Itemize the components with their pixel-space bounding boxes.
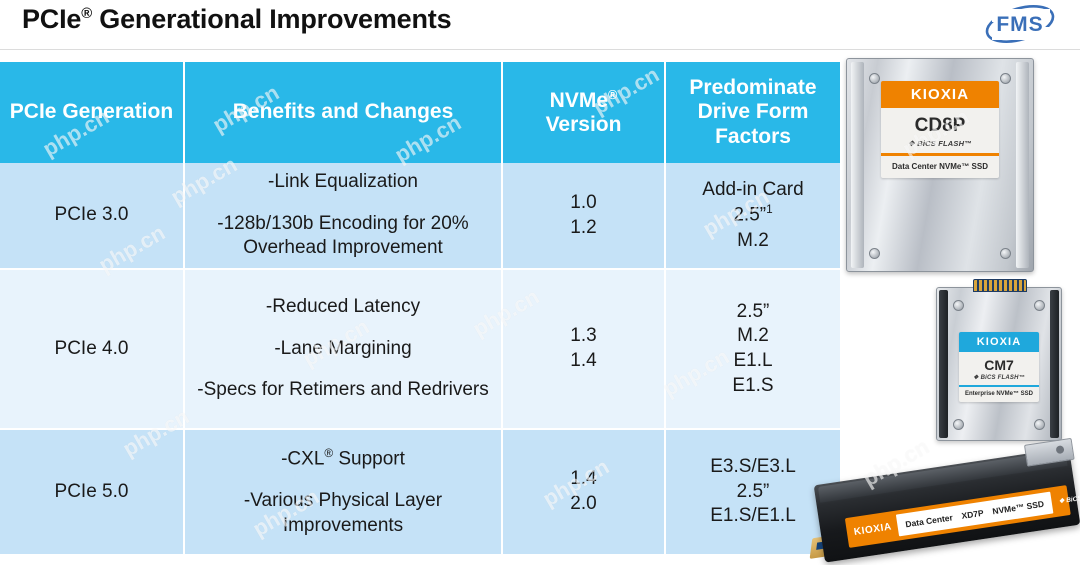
nvme-version-value: 2.0 xyxy=(503,492,664,517)
screw-icon xyxy=(869,73,880,84)
form-factor-item: Add-in Card xyxy=(666,178,840,203)
form-factor-item: E1.S xyxy=(666,374,840,399)
title-divider xyxy=(0,49,1080,50)
registered-trademark-icon: ® xyxy=(324,447,333,460)
footnote-marker: 1 xyxy=(766,203,773,216)
cell-nvme-version: 1.0 1.2 xyxy=(503,163,666,270)
screw-icon xyxy=(953,419,964,430)
column-header-nvme-line2: Version xyxy=(546,113,622,136)
fms-logo: FMS xyxy=(974,3,1066,45)
kioxia-brand-label: KIOXIA xyxy=(846,520,898,538)
screw-icon xyxy=(953,300,964,311)
product-model-label: CM7 xyxy=(959,352,1039,374)
product-segment-label: Data Center xyxy=(905,512,954,529)
form-factor-item: 2.5”1 xyxy=(666,202,840,228)
cell-benefits: -Link Equalization -128b/130b Encoding f… xyxy=(185,163,503,270)
benefit-item: -Reduced Latency xyxy=(185,295,501,320)
cell-generation: PCIe 3.0 xyxy=(0,163,185,270)
benefit-item: -Lane Margining xyxy=(185,337,501,362)
column-header-generation-label: PCIe Generation xyxy=(10,100,173,123)
registered-trademark-icon: ® xyxy=(81,6,92,22)
screw-icon xyxy=(1000,73,1011,84)
generation-label: PCIe 5.0 xyxy=(55,481,129,502)
product-model-label: CD8P xyxy=(881,108,999,138)
column-header-generation: PCIe Generation xyxy=(0,62,185,163)
nvme-version-value: 1.2 xyxy=(503,216,664,241)
bics-flash-label: ❖ BiCS FLASH™ xyxy=(959,374,1039,385)
column-header-benefits-label: Benefits and Changes xyxy=(233,100,454,123)
cell-generation: PCIe 4.0 xyxy=(0,270,185,430)
generation-label: PCIe 4.0 xyxy=(55,338,129,359)
product-category-label: Enterprise NVMe™ SSD xyxy=(959,387,1039,402)
product-image-cd8p: KIOXIA CD8P ❖ BiCS FLASH™ Data Center NV… xyxy=(846,58,1034,272)
product-category-label: Data Center NVMe™ SSD xyxy=(881,156,999,178)
benefit-item: -128b/130b Encoding for 20% Overhead Imp… xyxy=(185,212,501,261)
benefit-item: -Link Equalization xyxy=(185,170,501,195)
table-header-row: PCIe Generation Benefits and Changes NVM… xyxy=(0,62,840,163)
form-factor-item: 2.5” xyxy=(666,300,840,325)
form-factor-item: E1.S/E1.L xyxy=(666,504,840,529)
nvme-version-value: 1.4 xyxy=(503,349,664,374)
registered-trademark-icon: ® xyxy=(608,88,617,102)
page-title-main: PCIe xyxy=(22,4,81,34)
kioxia-brand-label: KIOXIA xyxy=(881,81,999,108)
benefit-item: -Various Physical Layer Improvements xyxy=(185,489,501,538)
bics-flash-label: ❖ BiCS FLASH™ xyxy=(881,138,999,153)
edge-connector-icon xyxy=(973,279,1027,292)
product-label-cd8p: KIOXIA CD8P ❖ BiCS FLASH™ Data Center NV… xyxy=(881,81,999,178)
screw-icon xyxy=(1000,248,1011,259)
column-header-form-factors: Predominate Drive Form Factors xyxy=(666,62,840,163)
kioxia-brand-label: KIOXIA xyxy=(959,332,1039,352)
cell-benefits: -Reduced Latency -Lane Margining -Specs … xyxy=(185,270,503,430)
screw-icon xyxy=(869,248,880,259)
pcie-generations-table: PCIe Generation Benefits and Changes NVM… xyxy=(0,62,840,554)
column-header-ff-line3: Factors xyxy=(715,125,791,148)
column-header-ff-line2: Drive Form xyxy=(698,100,809,123)
generation-label: PCIe 3.0 xyxy=(55,204,129,225)
drive-edge-right xyxy=(1050,290,1059,438)
table-row: PCIe 3.0 -Link Equalization -128b/130b E… xyxy=(0,163,840,270)
nvme-version-value: 1.4 xyxy=(503,467,664,492)
cell-form-factors: 2.5” M.2 E1.L E1.S xyxy=(666,270,840,430)
drive-edge-left xyxy=(939,290,948,438)
benefit-item: -CXL® Support xyxy=(185,446,501,472)
form-factor-item: M.2 xyxy=(666,229,840,254)
column-header-ff-line1: Predominate xyxy=(689,76,816,99)
screw-icon xyxy=(1034,419,1045,430)
product-image-cm7: KIOXIA CM7 ❖ BiCS FLASH™ Enterprise NVMe… xyxy=(936,287,1062,441)
column-header-benefits: Benefits and Changes xyxy=(185,62,503,163)
product-image-xd7p: KIOXIA Data Center XD7P NVMe™ SSD ❖ BiCS… xyxy=(814,447,1080,562)
nvme-version-value: 1.0 xyxy=(503,191,664,216)
cell-benefits: -CXL® Support -Various Physical Layer Im… xyxy=(185,430,503,554)
drive-rail-left xyxy=(851,62,864,268)
benefit-item: -Specs for Retimers and Redrivers xyxy=(185,378,501,403)
bracket-hole-icon xyxy=(1056,445,1065,454)
page-title-rest: Generational Improvements xyxy=(92,4,451,34)
table-row: PCIe 5.0 -CXL® Support -Various Physical… xyxy=(0,430,840,554)
nvme-version-value: 1.3 xyxy=(503,324,664,349)
svg-text:FMS: FMS xyxy=(996,13,1043,36)
column-header-nvme-version: NVMe® Version xyxy=(503,62,666,163)
form-factor-item: E3.S/E3.L xyxy=(666,455,840,480)
cell-generation: PCIe 5.0 xyxy=(0,430,185,554)
cell-nvme-version: 1.4 2.0 xyxy=(503,430,666,554)
page-title: PCIe® Generational Improvements xyxy=(22,4,451,35)
product-model-label: XD7P xyxy=(961,508,984,521)
column-header-nvme-line1: NVMe xyxy=(550,89,608,112)
drive-rail-right xyxy=(1016,62,1029,268)
form-factor-item: E1.L xyxy=(666,349,840,374)
form-factor-item: M.2 xyxy=(666,324,840,349)
screw-icon xyxy=(1034,300,1045,311)
product-label-cm7: KIOXIA CM7 ❖ BiCS FLASH™ Enterprise NVMe… xyxy=(959,332,1039,402)
table-row: PCIe 4.0 -Reduced Latency -Lane Marginin… xyxy=(0,270,840,430)
cell-nvme-version: 1.3 1.4 xyxy=(503,270,666,430)
product-interface-label: NVMe™ SSD xyxy=(992,499,1045,517)
cell-form-factors: Add-in Card 2.5”1 M.2 xyxy=(666,163,840,270)
